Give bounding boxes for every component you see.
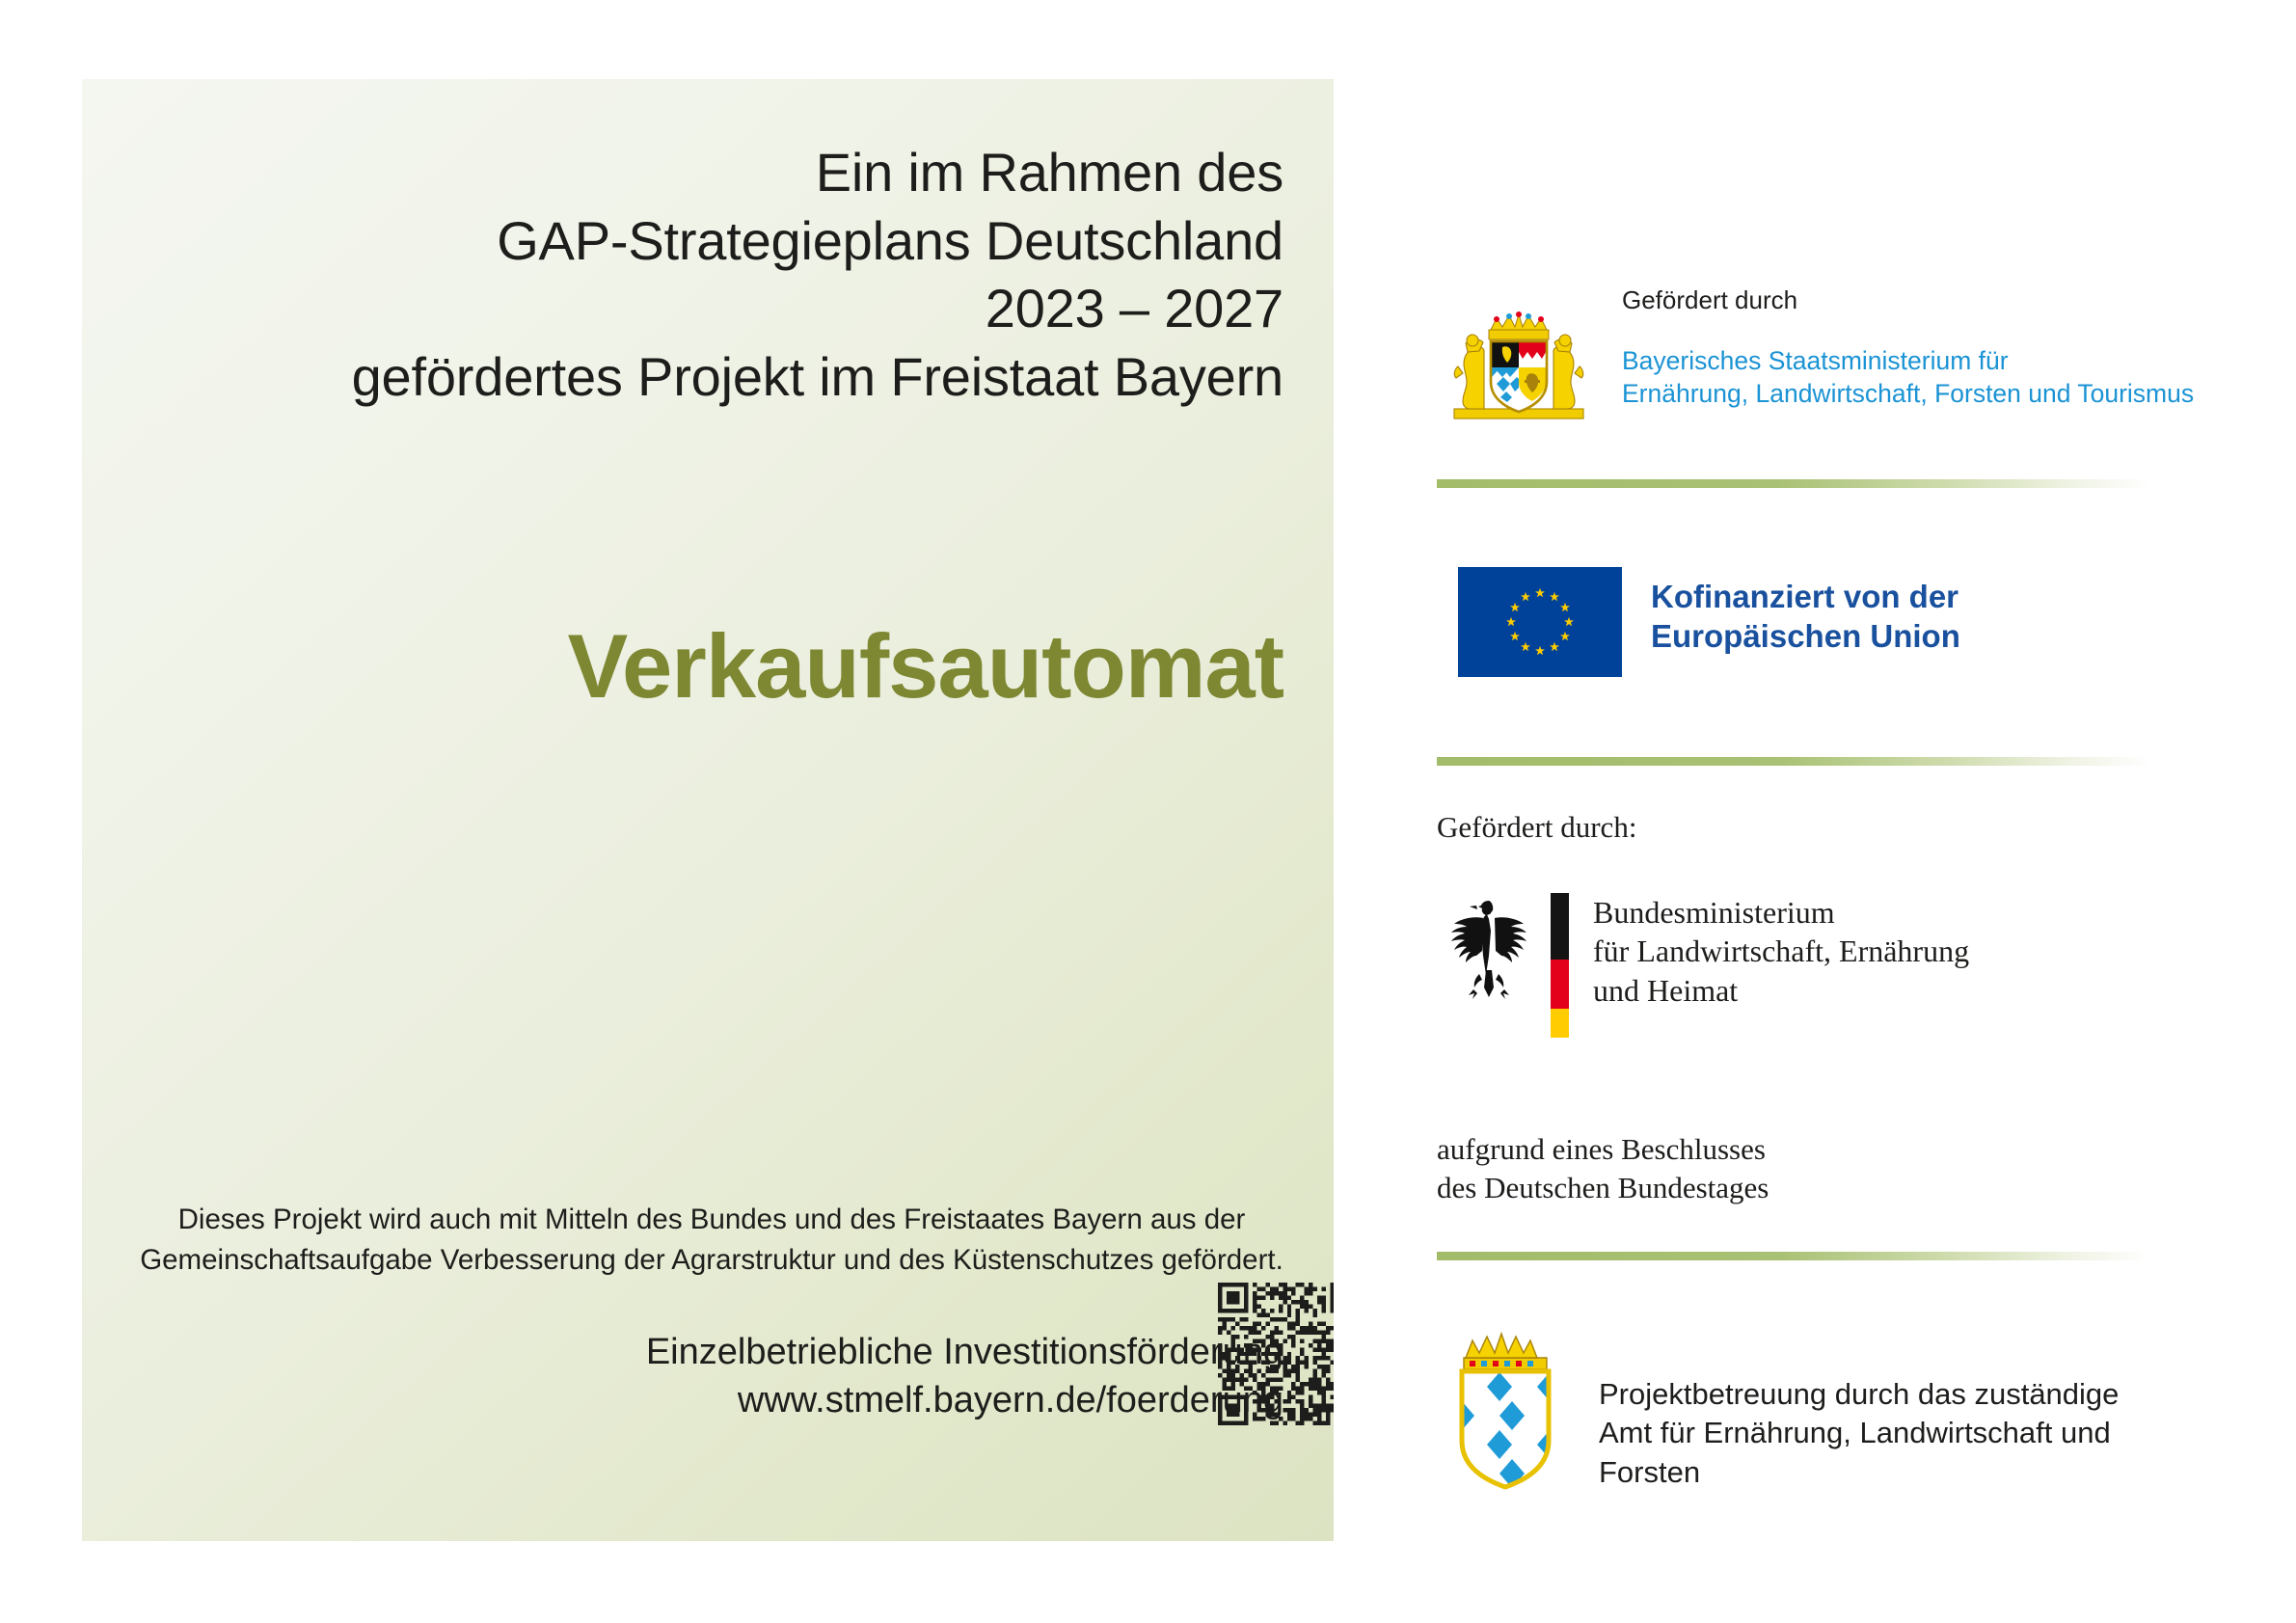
- eu-text-line-2: Europäischen Union: [1651, 616, 1960, 656]
- funding-note-line-2: Gemeinschaftsaufgabe Verbesserung der Ag…: [140, 1240, 1283, 1281]
- bundestag-line-1: aufgrund eines Beschlusses: [1437, 1130, 1769, 1169]
- german-flag-bar-icon: [1551, 893, 1569, 1038]
- funding-programme-label: Einzelbetriebliche Investitionsförderung: [435, 1328, 1283, 1377]
- bundesadler-icon: [1445, 895, 1533, 1003]
- heading-line-2: GAP-Strategieplans Deutschland: [136, 207, 1283, 276]
- aelf-line-2: Amt für Ernährung, Landwirtschaft und Fo…: [1599, 1414, 2208, 1492]
- escutcheon: [1491, 341, 1547, 412]
- bmel-kicker: Gefördert durch:: [1437, 810, 1636, 845]
- eu-text-line-1: Kofinanziert von der: [1651, 577, 1960, 616]
- divider-2: [1437, 757, 2150, 766]
- aelf-block: Projektbetreuung durch das zuständige Am…: [1437, 1329, 2208, 1512]
- funding-note-line-1: Dieses Projekt wird auch mit Mitteln des…: [140, 1200, 1283, 1240]
- stmelf-name-line-1: Bayerisches Staatsministerium für: [1622, 345, 2194, 378]
- funding-url[interactable]: www.stmelf.bayern.de/foerderung: [435, 1376, 1283, 1425]
- crown: [1489, 311, 1549, 339]
- eu-block: Kofinanziert von der Europäischen Union: [1437, 567, 2208, 692]
- poster-page: Ein im Rahmen des GAP-Strategieplans Deu…: [0, 0, 2296, 1623]
- bayern-rautenschild-icon: [1446, 1329, 1564, 1491]
- divider-3: [1437, 1252, 2150, 1260]
- funding-poster-card: Ein im Rahmen des GAP-Strategieplans Deu…: [82, 79, 1334, 1541]
- stmelf-name-line-2: Ernährung, Landwirtschaft, Forsten und T…: [1622, 378, 2194, 411]
- heading-line-3: 2023 – 2027: [136, 275, 1283, 343]
- bmel-name-line-2: für Landwirtschaft, Ernährung: [1593, 932, 1969, 970]
- qr-code[interactable]: [1218, 1283, 1334, 1425]
- bmel-name: Bundesministerium für Landwirtschaft, Er…: [1593, 893, 1969, 1010]
- poster-footer: Einzelbetriebliche Investitionsförderung…: [435, 1328, 1283, 1425]
- bmel-name-line-3: und Heimat: [1593, 971, 1969, 1010]
- bmel-name-line-1: Bundesministerium: [1593, 893, 1969, 932]
- eu-flag-icon: [1458, 567, 1622, 677]
- stmelf-name: Bayerisches Staatsministerium für Ernähr…: [1622, 345, 2194, 411]
- aelf-text: Projektbetreuung durch das zuständige Am…: [1599, 1375, 2208, 1492]
- stmelf-kicker: Gefördert durch: [1622, 285, 1797, 315]
- bmel-block: Gefördert durch:: [1437, 810, 2208, 1080]
- project-title: Verkaufsautomat: [136, 619, 1283, 715]
- bundestag-note: aufgrund eines Beschlusses des Deutschen…: [1437, 1130, 1769, 1208]
- eu-stars: [1458, 567, 1622, 677]
- heading-line-4: gefördertes Projekt im Freistaat Bayern: [136, 343, 1283, 412]
- heading-line-1: Ein im Rahmen des: [136, 139, 1283, 207]
- funding-logos-column: Gefördert durch Bayerisches Staatsminist…: [1437, 0, 2208, 1623]
- bundestag-block: aufgrund eines Beschlusses des Deutschen…: [1437, 1130, 2208, 1227]
- crown: [1464, 1334, 1547, 1369]
- bundestag-line-2: des Deutschen Bundestages: [1437, 1169, 1769, 1207]
- funding-note: Dieses Projekt wird auch mit Mitteln des…: [140, 1200, 1283, 1281]
- bayerisches-staatswappen-icon: [1437, 309, 1601, 424]
- divider-1: [1437, 479, 2150, 488]
- aelf-line-1: Projektbetreuung durch das zuständige: [1599, 1375, 2208, 1414]
- eu-funding-text: Kofinanziert von der Europäischen Union: [1651, 577, 1960, 657]
- stmelf-block: Gefördert durch Bayerisches Staatsminist…: [1437, 285, 2208, 449]
- poster-heading: Ein im Rahmen des GAP-Strategieplans Deu…: [136, 139, 1283, 411]
